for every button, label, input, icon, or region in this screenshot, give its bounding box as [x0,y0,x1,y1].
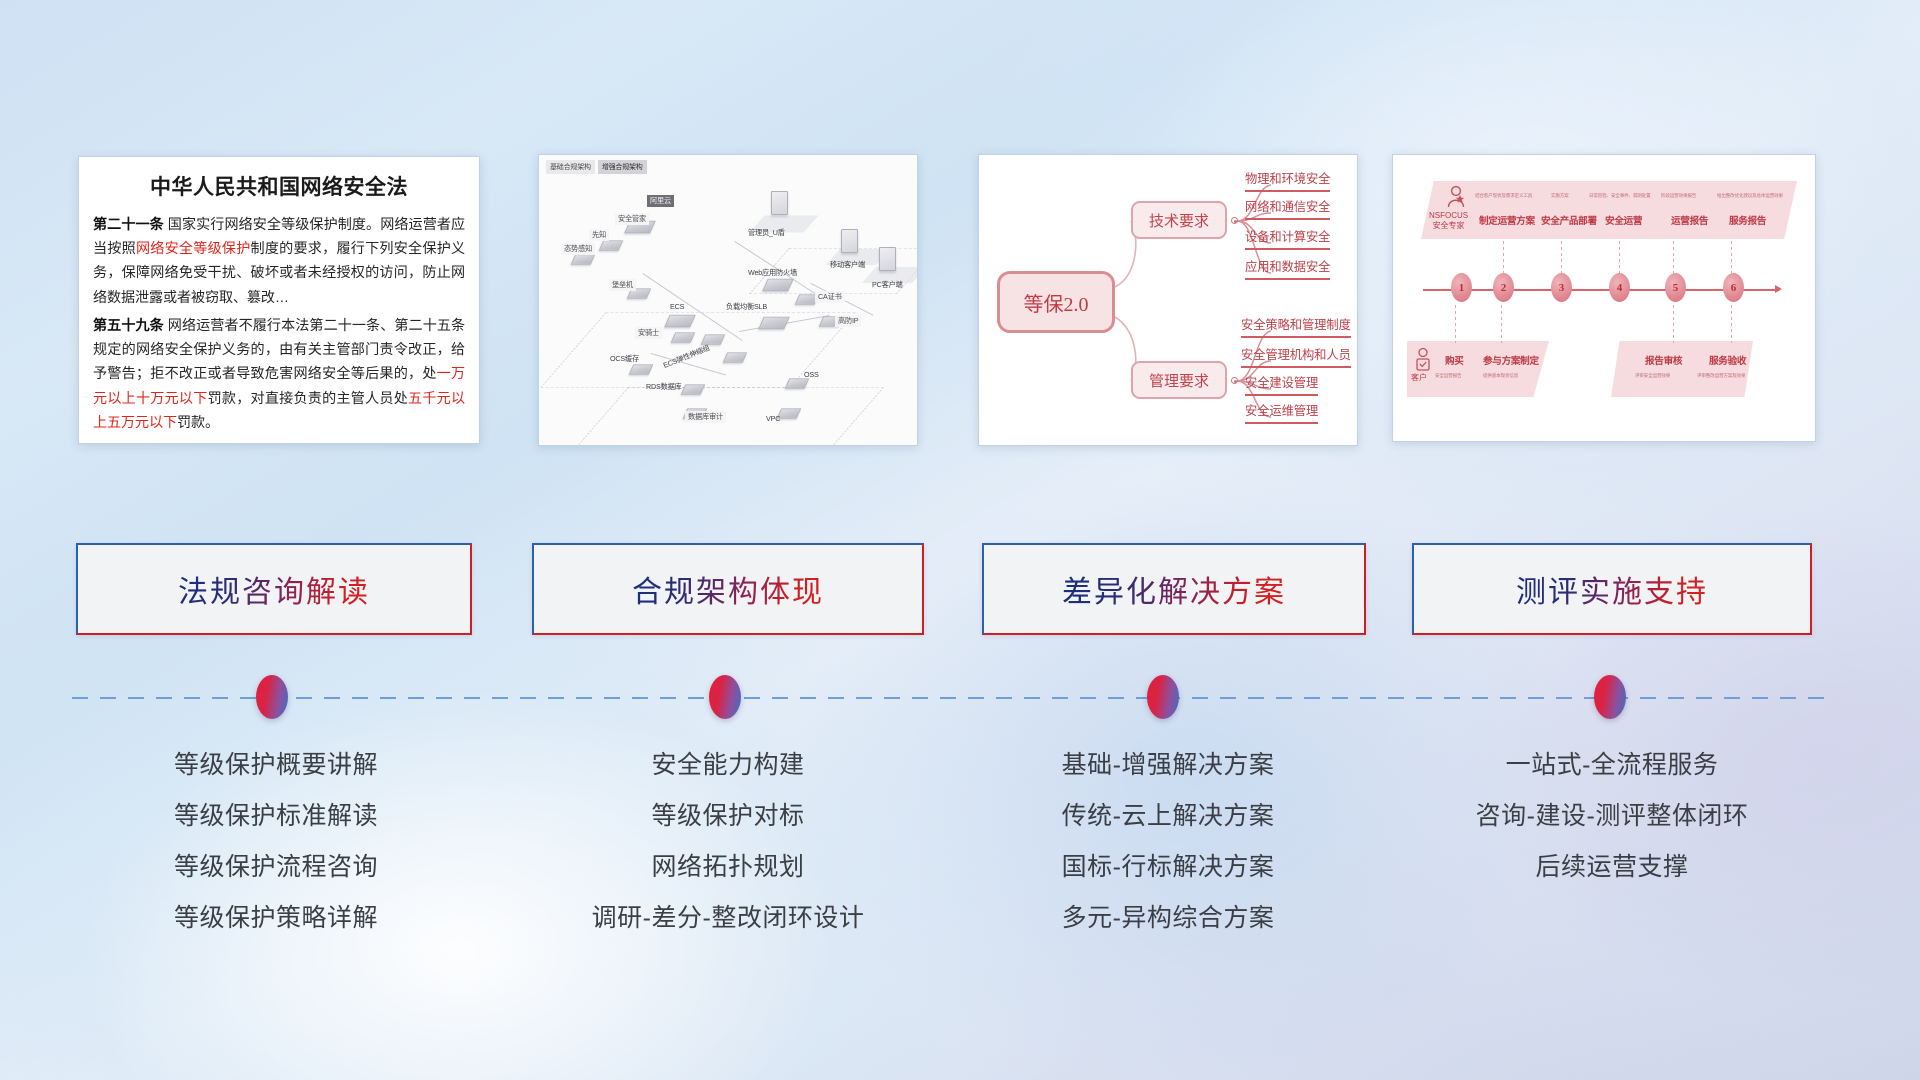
timeline-bottom-label-5: 报告审核 [1645,353,1682,367]
article-21-highlight: 网络安全等级保护 [136,240,251,256]
architecture-tabs: 基础合规架构 增强合规架构 [546,160,647,174]
mindmap: 等保2.0 技术要求 管理要求 物 [979,155,1357,445]
arch-icon-waf [762,279,794,291]
list-item: 国标-行标解决方案 [968,842,1368,893]
list-item: 后续运营支撑 [1408,842,1816,893]
heading-label-2: 合规架构体现 [632,567,824,611]
arch-label-slb: 负载均衡SLB [723,301,770,313]
timeline-stem-top-2 [1503,241,1504,273]
list-item: 等级保护对标 [528,791,928,842]
timeline-top-sub-5: 给出整改优化建议及总体运营效果 [1717,193,1783,199]
card-service-timeline: NSFOCUS 安全专家 客户 结合客户现状及需求定义工具 制定运营方案 实施方… [1392,154,1816,442]
arch-label-ecs: ECS [667,301,687,312]
column-assessment-support: 一站式-全流程服务 咨询-建设-测评整体闭环 后续运营支撑 [1408,740,1816,893]
arch-label-xianzhi: 先知 [589,229,609,241]
list-item: 等级保护策略详解 [76,893,476,944]
arch-label-vpc: VPC [763,413,783,424]
timeline-band-expert [1421,181,1797,239]
mindmap-leaf-policy-system: 安全策略和管理制度 [1241,315,1351,338]
timeline-node-6[interactable]: 6 [1723,273,1744,302]
list-item: 一站式-全流程服务 [1408,740,1816,791]
timeline-bottom-sub-1: 安全运营报告 [1435,373,1461,379]
arch-label-waf: Web应用防火墙 [745,267,800,279]
column-regulation-consulting: 等级保护概要讲解 等级保护标准解读 等级保护流程咨询 等级保护策略详解 [76,740,476,944]
arch-icon-situational-awareness [571,254,596,264]
list-item: 咨询-建设-测评整体闭环 [1408,791,1816,842]
list-item: 调研-差分-整改闭环设计 [528,893,928,944]
rail-dot-1[interactable] [256,675,288,719]
timeline-node-5[interactable]: 5 [1665,273,1686,302]
mindmap-leaf-device-compute: 设备和计算安全 [1245,227,1330,250]
heading-label-4: 测评实施支持 [1516,567,1708,611]
timeline-bottom-sub-5: 评审安全运营效果 [1635,373,1670,379]
arch-icon-mobile-client [841,229,858,253]
rail-dot-2[interactable] [709,675,741,719]
card-cloud-architecture: 基础合规架构 增强合规架构 [538,154,918,446]
mindmap-leaf-network-comm: 网络和通信安全 [1245,197,1330,220]
arch-tab-enhanced: 增强合规架构 [598,160,647,174]
timeline-expert-label: NSFOCUS 安全专家 [1429,211,1468,231]
arch-label-mobile-client: 移动客户端 [827,259,868,271]
arch-icon-xianzhi [599,240,624,250]
mindmap-branch-management: 管理要求 [1131,361,1227,399]
timeline-node-2[interactable]: 2 [1493,273,1514,302]
timeline-top-label-1: 制定运营方案 [1479,213,1535,227]
timeline-bottom-label-2: 参与方案制定 [1483,353,1539,367]
law-title: 中华人民共和国网络安全法 [93,171,465,201]
slide-root: 中华人民共和国网络安全法 第二十一条 国家实行网络安全等级保护制度。网络运营者应… [0,0,1920,1080]
arch-label-pc-client: PC客户端 [869,279,906,291]
arch-icon-pc-client [879,247,896,271]
mindmap-leaf-app-data: 应用和数据安全 [1245,257,1330,280]
article-21-label: 第二十一条 [93,216,164,232]
cards-row: 中华人民共和国网络安全法 第二十一条 国家实行网络安全等级保护制度。网络运营者应… [0,152,1920,452]
card-dengbao-mindmap: 等保2.0 技术要求 管理要求 物 [978,154,1358,446]
list-item: 等级保护流程咨询 [76,842,476,893]
timeline-stem-top-3 [1561,241,1562,273]
heading-label-1: 法规咨询解读 [178,567,370,611]
arch-label-rds: RDS数据库 [643,381,685,393]
heading-box-regulation-consulting[interactable]: 法规咨询解读 [76,543,472,635]
arch-label-situational-awareness: 态势感知 [561,243,595,255]
list-item: 等级保护标准解读 [76,791,476,842]
arch-label-high-defense-ip: 高防IP [835,315,861,327]
timeline-top-label-5: 服务报告 [1729,213,1766,227]
heading-box-differentiated-solution[interactable]: 差异化解决方案 [982,543,1366,635]
mindmap-leaf-org-personnel: 安全管理机构和人员 [1241,345,1351,368]
timeline-top-sub-4: 阶段运营效果报告 [1661,193,1696,199]
mindmap-branch-technical: 技术要求 [1131,201,1227,239]
timeline-stem-top-4 [1619,241,1620,273]
timeline-top-label-2: 安全产品部署 [1541,213,1597,227]
timeline-node-3[interactable]: 3 [1551,273,1572,302]
mindmap-leaf-build-mgmt: 安全建设管理 [1245,373,1318,396]
arch-tab-basic: 基础合规架构 [546,160,595,174]
article-59-text-2: 罚款，对直接负责的主管人员处 [208,390,408,406]
list-item: 网络拓扑规划 [528,842,928,893]
architecture-diagram: 基础合规架构 增强合规架构 [539,155,917,445]
list-item: 基础-增强解决方案 [968,740,1368,791]
arch-icon-slb [758,317,790,329]
article-59-label: 第五十九条 [93,317,164,333]
list-item: 多元-异构综合方案 [968,893,1368,944]
rail-dot-4[interactable] [1594,675,1626,719]
arch-label-admin-ukey: 管理员_U盾 [745,227,788,239]
arch-icon-ecs [664,315,696,327]
list-item: 传统-云上解决方案 [968,791,1368,842]
timeline-node-1[interactable]: 1 [1451,273,1472,302]
timeline-bottom-label-1: 购买 [1445,353,1464,367]
timeline-stem-bottom-6 [1731,305,1732,343]
arch-label-bastion-host: 堡垒机 [609,279,636,291]
heading-label-3: 差异化解决方案 [1062,567,1286,611]
law-article-59: 第五十九条 网络运营者不履行本法第二十一条、第二十五条规定的网络安全保护义务的，… [93,313,465,434]
mindmap-leaf-physical-env: 物理和环境安全 [1245,169,1330,192]
customer-person-icon [1413,347,1433,371]
timeline-rail [72,697,1824,699]
expert-person-icon [1445,185,1467,209]
timeline-top-label-4: 运营报告 [1671,213,1708,227]
timeline-arrow-icon [1775,285,1782,293]
list-item: 等级保护概要讲解 [76,740,476,791]
heading-box-compliance-architecture[interactable]: 合规架构体现 [532,543,924,635]
heading-box-assessment-support[interactable]: 测评实施支持 [1412,543,1812,635]
timeline-stem-bottom-1 [1455,305,1456,343]
arch-label-anqishi: 安骑士 [635,327,662,339]
timeline-bottom-sub-6: 评审整改运营方案及效果 [1697,373,1745,379]
column-differentiated-solution: 基础-增强解决方案 传统-云上解决方案 国标-行标解决方案 多元-异构综合方案 [968,740,1368,944]
mindmap-collapse-dot-technical[interactable] [1231,217,1238,224]
timeline-top-label-3: 安全运营 [1605,213,1642,227]
list-item: 安全能力构建 [528,740,928,791]
timeline-top-sub-2: 实施方案 [1551,193,1569,199]
law-article-21: 第二十一条 国家实行网络安全等级保护制度。网络运营者应当按照网络安全等级保护制度… [93,212,465,309]
timeline-band-customer-right [1611,341,1753,397]
timeline-stem-bottom-2 [1501,305,1502,343]
arch-label-ca-cert: CA证书 [815,291,845,303]
timeline-top-sub-3: 日常巡检、安全事件、漏洞处置 [1589,193,1651,199]
timeline-top-sub-1: 结合客户现状及需求定义工具 [1475,193,1532,199]
timeline-stem-top-5 [1673,241,1674,273]
arch-label-oss: OSS [801,369,822,380]
service-timeline: NSFOCUS 安全专家 客户 结合客户现状及需求定义工具 制定运营方案 实施方… [1393,155,1815,441]
arch-label-security-butler: 安全管家 [615,213,649,225]
arch-label-ocs-cache: OCS缓存 [607,353,642,365]
article-59-text-3: 罚款。 [177,414,219,430]
timeline-customer-label: 客户 [1411,373,1427,383]
headings-row: 法规咨询解读 合规架构体现 差异化解决方案 测评实施支持 [0,543,1920,643]
card-cybersecurity-law: 中华人民共和国网络安全法 第二十一条 国家实行网络安全等级保护制度。网络运营者应… [78,156,480,444]
arch-label-db-audit: 数据库审计 [685,411,726,423]
timeline-stem-top-6 [1731,241,1732,273]
mindmap-collapse-dot-management[interactable] [1231,377,1238,384]
column-compliance-architecture: 安全能力构建 等级保护对标 网络拓扑规划 调研-差分-整改闭环设计 [528,740,928,944]
timeline-bottom-sub-2: 提供基本现状信息 [1483,373,1518,379]
mindmap-leaf-ops-mgmt: 安全运维管理 [1245,401,1318,424]
timeline-bottom-label-6: 服务验收 [1709,353,1746,367]
timeline-stem-bottom-5 [1673,305,1674,343]
arch-label-aliyun: 阿里云 [647,195,674,207]
rail-dot-3[interactable] [1147,675,1179,719]
timeline-node-4[interactable]: 4 [1609,273,1630,302]
arch-icon-admin-ukey [771,191,788,215]
